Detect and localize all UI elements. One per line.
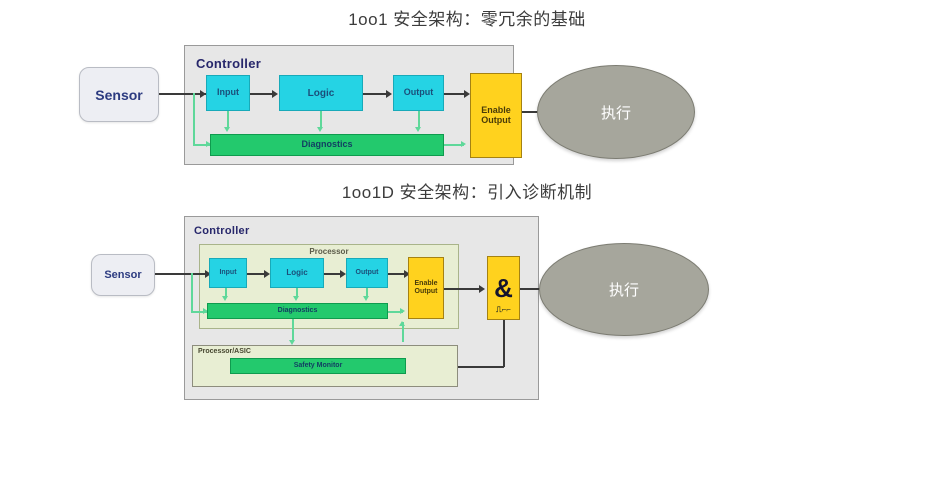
diagram2-conn-safety-and-h — [458, 366, 504, 368]
diagram2-and-gate-symbol: & — [494, 275, 513, 301]
diagram2-block-output: Output — [346, 258, 388, 288]
diagram2-processor-asic-label: Processor/ASIC — [198, 348, 251, 355]
diagram2-arrow-diag-enable — [400, 308, 405, 314]
diagram2-and-gate-waveform-icon: ⎍⌐⌐ — [496, 306, 511, 315]
diagram2-block-diagnostics: Diagnostics — [207, 303, 388, 319]
diagram1-block-input-label: Input — [217, 88, 239, 98]
diagram2-and-gate: & ⎍⌐⌐ — [487, 256, 520, 320]
diagram1-conn-input-diag — [227, 111, 229, 128]
diagram2-arrow-pasic-diag — [399, 321, 405, 326]
diagram2-block-input: Input — [209, 258, 247, 288]
diagram1-arrow-output-diag — [415, 127, 421, 132]
diagram2-conn-sensor-input — [155, 273, 211, 275]
diagram2-block-safety-monitor-label: Safety Monitor — [294, 362, 343, 370]
diagram1-block-diagnostics: Diagnostics — [210, 134, 444, 156]
diagram2-arrow-logic-diag — [293, 296, 299, 301]
diagram1-block-enable-output: Enable Output — [470, 73, 522, 158]
diagram2-block-output-label: Output — [356, 269, 379, 277]
diagram2-block-input-label: Input — [219, 269, 236, 277]
diagram1-block-output-label: Output — [404, 88, 434, 98]
diagram2-sensor-label: Sensor — [104, 269, 141, 281]
diagram1-block-logic: Logic — [279, 75, 363, 111]
diagram2-processor-label: Processor — [199, 247, 459, 256]
diagram2-actuator-ellipse: 执行 — [539, 243, 709, 336]
diagram2-sensor-box: Sensor — [91, 254, 155, 296]
diagram2-block-logic-label: Logic — [286, 269, 307, 278]
diagram1-arrow-input-diag — [224, 127, 230, 132]
diagram2-conn-diag-pasic — [292, 319, 294, 341]
diagram2-conn-sensor-diag-v — [191, 273, 193, 312]
diagram2-controller-label: Controller — [194, 225, 250, 237]
diagram1-conn-sensor-diag-v — [193, 93, 195, 145]
diagram1-sensor-box: Sensor — [79, 67, 159, 122]
diagram1-block-logic-label: Logic — [308, 88, 335, 99]
diagram2-block-diagnostics-label: Diagnostics — [278, 307, 318, 315]
diagram2-arrow-enable-and — [479, 285, 485, 293]
diagram1-arrow-logic-output — [386, 90, 392, 98]
diagram2-block-logic: Logic — [270, 258, 324, 288]
diagram2-actuator-label: 执行 — [609, 279, 639, 300]
diagram2-conn-enable-and — [444, 288, 482, 290]
diagram2-arrow-output-diag — [363, 296, 369, 301]
diagram1-arrow-input-logic — [272, 90, 278, 98]
diagram2-block-safety-monitor: Safety Monitor — [230, 358, 406, 374]
diagram2-block-enable-output-label2: Output — [415, 288, 438, 296]
diagram2-title: 1oo1D 安全架构：引入诊断机制 — [0, 178, 934, 203]
diagram2-arrow-input-diag — [222, 296, 228, 301]
diagram2-block-enable-output-label1: Enable — [415, 280, 438, 288]
diagram1-conn-output-diag — [418, 111, 420, 128]
diagram1-actuator-label: 执行 — [601, 102, 631, 123]
diagram1-controller-label: Controller — [196, 56, 261, 71]
diagram1-arrow-diag-enable — [461, 141, 466, 147]
diagram1-conn-logic-diag — [320, 111, 322, 128]
diagram1-block-output: Output — [393, 75, 444, 111]
diagram1-sensor-label: Sensor — [95, 87, 142, 103]
diagram2-block-enable-output: Enable Output — [408, 257, 444, 319]
diagram-canvas: 1oo1 安全架构：零冗余的基础 Controller Sensor Input… — [0, 0, 934, 500]
diagram1-actuator-ellipse: 执行 — [537, 65, 695, 159]
diagram1-block-diagnostics-label: Diagnostics — [301, 140, 352, 150]
diagram1-title: 1oo1 安全架构：零冗余的基础 — [0, 5, 934, 30]
diagram1-block-enable-output-label2: Output — [481, 116, 511, 126]
diagram1-block-input: Input — [206, 75, 250, 111]
diagram1-arrow-logic-diag — [317, 127, 323, 132]
